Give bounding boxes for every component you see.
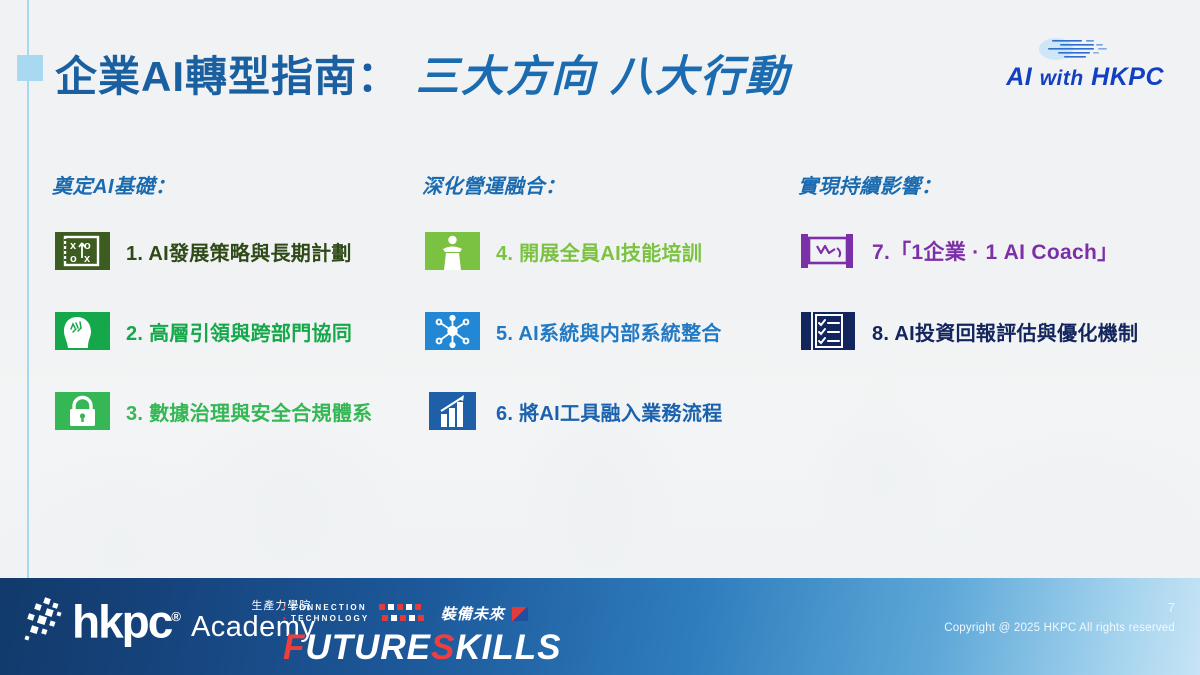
list-item[interactable]: 8. AI投資回報評估與優化機制: [798, 305, 1188, 357]
column-3-heading: 實現持續影響：: [798, 170, 1188, 199]
checklist-clipboard-icon: [798, 309, 858, 353]
list-item-label: 7.「1企業 · 1 AI Coach」: [872, 236, 1118, 266]
list-item-label: 4. 開展全員AI技能培訓: [496, 237, 702, 266]
hkpc-academy-logo: hkpc® 生產力學院 Academy: [22, 594, 315, 644]
list-item-label: 3. 數據治理與安全合規體系: [126, 397, 372, 426]
list-item-label: 5. AI系統與内部系統整合: [496, 317, 722, 346]
bullet-dot-icon: •: [283, 603, 288, 612]
svg-text:x: x: [70, 240, 77, 252]
futureskills-wordmark: FUTURESKILLS: [283, 629, 561, 667]
strategy-playbook-icon: xo ox: [52, 229, 112, 273]
list-item[interactable]: 6. 將AI工具融入業務流程: [422, 385, 792, 437]
list-item[interactable]: 5. AI系統與内部系統整合: [422, 305, 792, 357]
list-item-label: 2. 高層引領與跨部門協同: [126, 317, 352, 346]
connection-squares: [379, 603, 424, 612]
futureskills-tagline: •CONNECTION •TECHNOLOGY 裝備未來: [283, 598, 561, 628]
square-accent: [17, 55, 43, 81]
title-main-text: 企業AI轉型指南：: [55, 43, 400, 104]
head-brain-icon: [52, 309, 112, 353]
technology-line: •TECHNOLOGY: [283, 613, 427, 624]
column-impact: 實現持續影響： 7.「1企業 · 1 AI Coach」: [798, 170, 1188, 385]
futureskills-flag-icon: [512, 607, 528, 621]
technology-squares: [382, 614, 427, 623]
copyright-text: Copyright @ 2025 HKPC All rights reserve…: [944, 622, 1175, 634]
slide-title: 企業AI轉型指南： 三大方向 八大行動: [55, 42, 790, 104]
list-item[interactable]: xo ox 1. AI發展策略與長期計劃: [52, 225, 422, 277]
list-item-label: 8. AI投資回報評估與優化機制: [872, 317, 1138, 346]
futureskills-chinese: 裝備未來: [441, 603, 528, 624]
network-nodes-icon: [422, 309, 482, 353]
column-2-heading: 深化營運融合：: [422, 170, 792, 199]
fs-letter-s: S: [431, 628, 455, 667]
slide-footer: hkpc® 生產力學院 Academy •CONNECTION •TECHNOL…: [0, 578, 1200, 675]
whiteboard-coach-icon: [798, 229, 858, 273]
lock-icon: [52, 389, 112, 433]
page-number: 7: [1168, 600, 1175, 615]
hkpc-word-text: hkpc: [72, 595, 171, 647]
hkpc-wordmark: hkpc®: [72, 594, 181, 644]
bar-chart-growth-icon: [422, 389, 482, 433]
swoosh-icon: [1038, 36, 1128, 62]
list-item[interactable]: 3. 數據治理與安全合規體系: [52, 385, 422, 437]
column-foundation: 奠定AI基礎： xo ox: [52, 170, 422, 465]
podium-training-icon: [422, 229, 482, 273]
ai-with-hkpc-logo: AI with HKPC: [964, 36, 1164, 92]
connection-line: •CONNECTION: [283, 602, 427, 613]
slide-canvas: 企業AI轉型指南： 三大方向 八大行動 AI with HKPC: [0, 0, 1200, 675]
list-item[interactable]: 7.「1企業 · 1 AI Coach」: [798, 225, 1188, 277]
futureskills-chinese-text: 裝備未來: [441, 606, 505, 623]
hkpc-dots-icon: [22, 596, 70, 644]
brand-with: with: [1040, 67, 1084, 90]
brand-text: AI with HKPC: [1006, 63, 1164, 92]
technology-text: TECHNOLOGY: [291, 614, 369, 623]
list-item[interactable]: 2. 高層引領與跨部門協同: [52, 305, 422, 357]
fs-letter-f: F: [283, 628, 305, 667]
left-vertical-rule: [27, 0, 29, 578]
title-emphasis-text: 三大方向 八大行動: [416, 42, 790, 104]
fs-uture: UTURE: [305, 628, 431, 667]
futureskills-tagline-text: •CONNECTION •TECHNOLOGY: [283, 602, 427, 624]
brand-hkpc: HKPC: [1091, 63, 1164, 91]
list-item-label: 6. 將AI工具融入業務流程: [496, 397, 722, 426]
bullet-dot-icon: •: [283, 614, 288, 623]
list-item-label: 1. AI發展策略與長期計劃: [126, 237, 352, 266]
futureskills-logo: •CONNECTION •TECHNOLOGY 裝備未來: [283, 598, 561, 667]
connection-text: CONNECTION: [291, 603, 367, 612]
list-item[interactable]: 4. 開展全員AI技能培訓: [422, 225, 792, 277]
svg-text:o: o: [70, 253, 77, 265]
svg-text:x: x: [84, 253, 91, 265]
hkpc-registered-mark: ®: [171, 609, 181, 624]
column-1-heading: 奠定AI基礎：: [52, 170, 422, 199]
fs-kills: KILLS: [455, 628, 561, 667]
brand-ai: AI: [1006, 63, 1032, 91]
column-operations: 深化營運融合： 4. 開展全員AI技能培訓: [422, 170, 792, 465]
